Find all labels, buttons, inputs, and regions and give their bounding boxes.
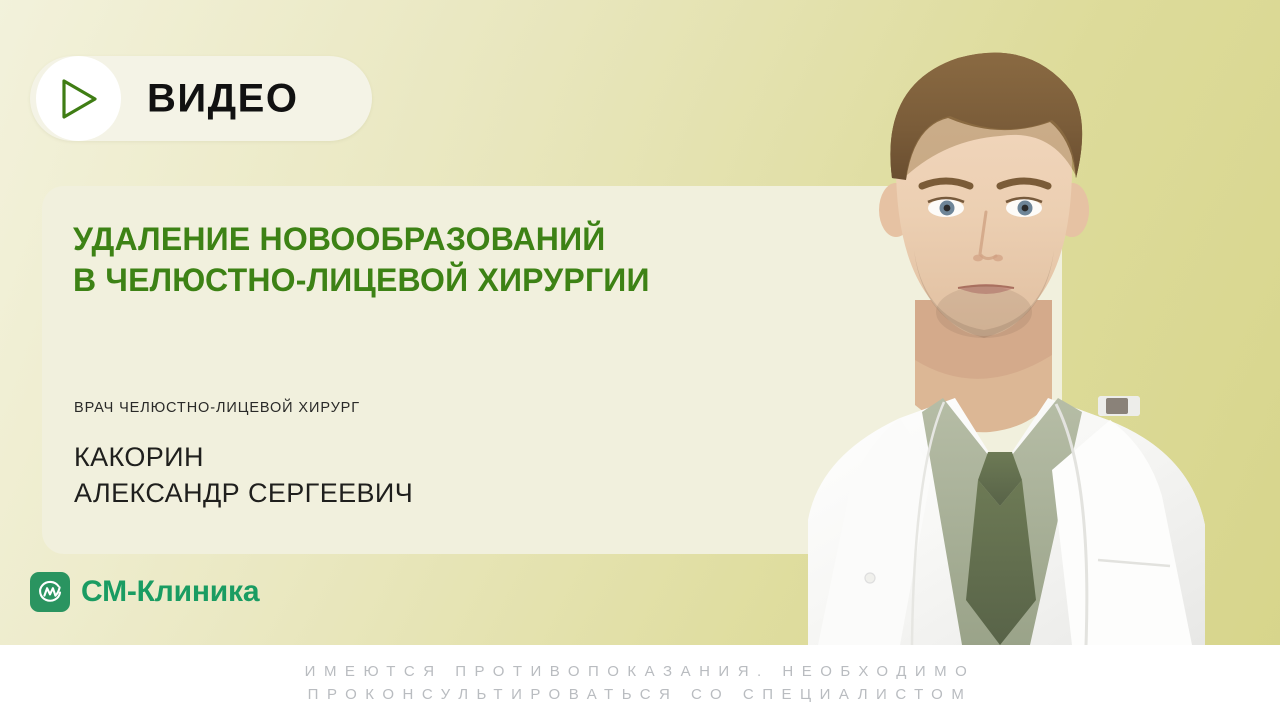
- title-line-2: В ЧЕЛЮСТНО-ЛИЦЕВОЙ ХИРУРГИИ: [73, 260, 793, 301]
- doctor-name: КАКОРИН АЛЕКСАНДР СЕРГЕЕВИЧ: [74, 440, 413, 512]
- card-mask-shape: [740, 186, 1280, 554]
- doctor-role: ВРАЧ ЧЕЛЮСТНО-ЛИЦЕВОЙ ХИРУРГ: [74, 400, 360, 416]
- disclaimer: ИМЕЮТСЯ ПРОТИВОПОКАЗАНИЯ. НЕОБХОДИМО ПРО…: [0, 645, 1280, 720]
- video-badge[interactable]: ВИДЕО: [30, 56, 372, 141]
- brand-logo[interactable]: СМ-Клиника: [30, 572, 259, 612]
- play-button[interactable]: [36, 56, 121, 141]
- page-title: УДАЛЕНИЕ НОВООБРАЗОВАНИЙ В ЧЕЛЮСТНО-ЛИЦЕ…: [73, 219, 793, 301]
- disclaimer-line-2: ПРОКОНСУЛЬТИРОВАТЬСЯ СО СПЕЦИАЛИСТОМ: [308, 686, 973, 703]
- video-badge-label: ВИДЕО: [147, 76, 298, 121]
- title-line-1: УДАЛЕНИЕ НОВООБРАЗОВАНИЙ: [73, 221, 606, 257]
- card-photo-mask: [740, 186, 1280, 554]
- doctor-surname: КАКОРИН: [74, 442, 204, 472]
- video-promo-slide: УДАЛЕНИЕ НОВООБРАЗОВАНИЙ В ЧЕЛЮСТНО-ЛИЦЕ…: [0, 0, 1280, 720]
- pulse-circle-glyph: [36, 578, 64, 606]
- cm-pulse-logo-icon: [30, 572, 70, 612]
- play-triangle-icon: [57, 76, 101, 122]
- doctor-given-names: АЛЕКСАНДР СЕРГЕЕВИЧ: [74, 476, 413, 512]
- disclaimer-line-1: ИМЕЮТСЯ ПРОТИВОПОКАЗАНИЯ. НЕОБХОДИМО: [305, 663, 976, 680]
- brand-logo-text: СМ-Клиника: [81, 575, 259, 609]
